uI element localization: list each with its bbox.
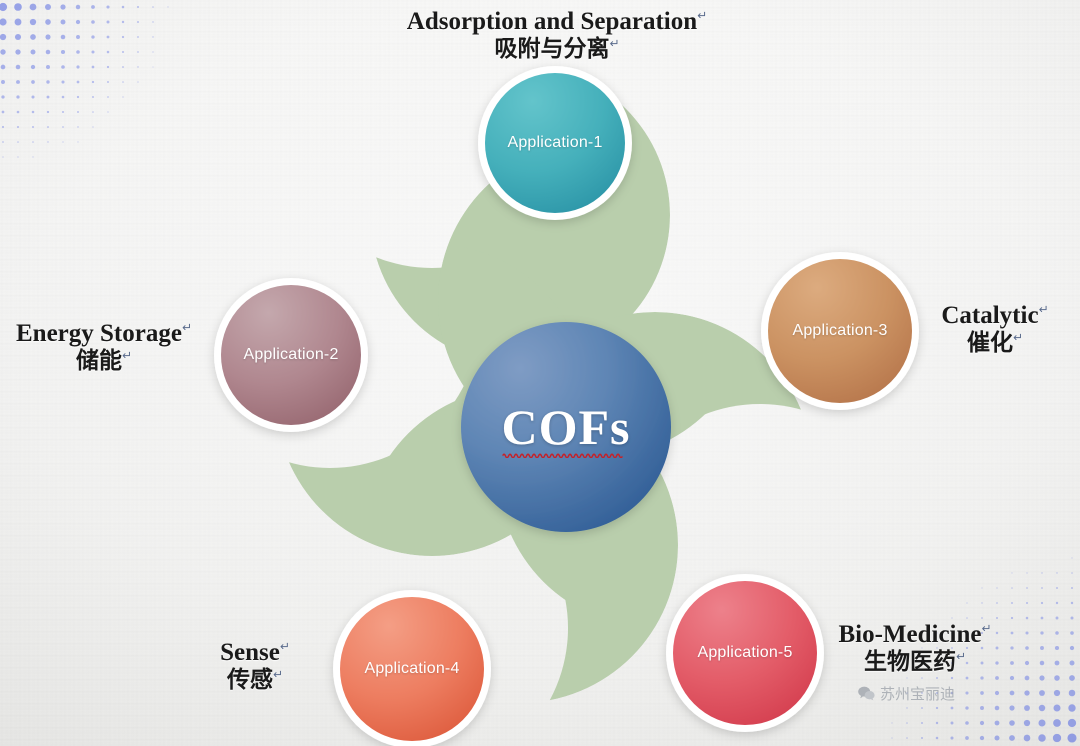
diagram-canvas: COFs Application-1 Application-2 Applica… (0, 0, 1080, 746)
center-node-circle[interactable] (461, 322, 671, 532)
node-circle-application-3[interactable] (768, 259, 912, 403)
radial-diagram-artwork (0, 0, 1080, 746)
node-circle-application-4[interactable] (340, 597, 484, 741)
node-circle-application-1[interactable] (485, 73, 625, 213)
node-circle-application-5[interactable] (673, 581, 817, 725)
node-circle-application-2[interactable] (221, 285, 361, 425)
